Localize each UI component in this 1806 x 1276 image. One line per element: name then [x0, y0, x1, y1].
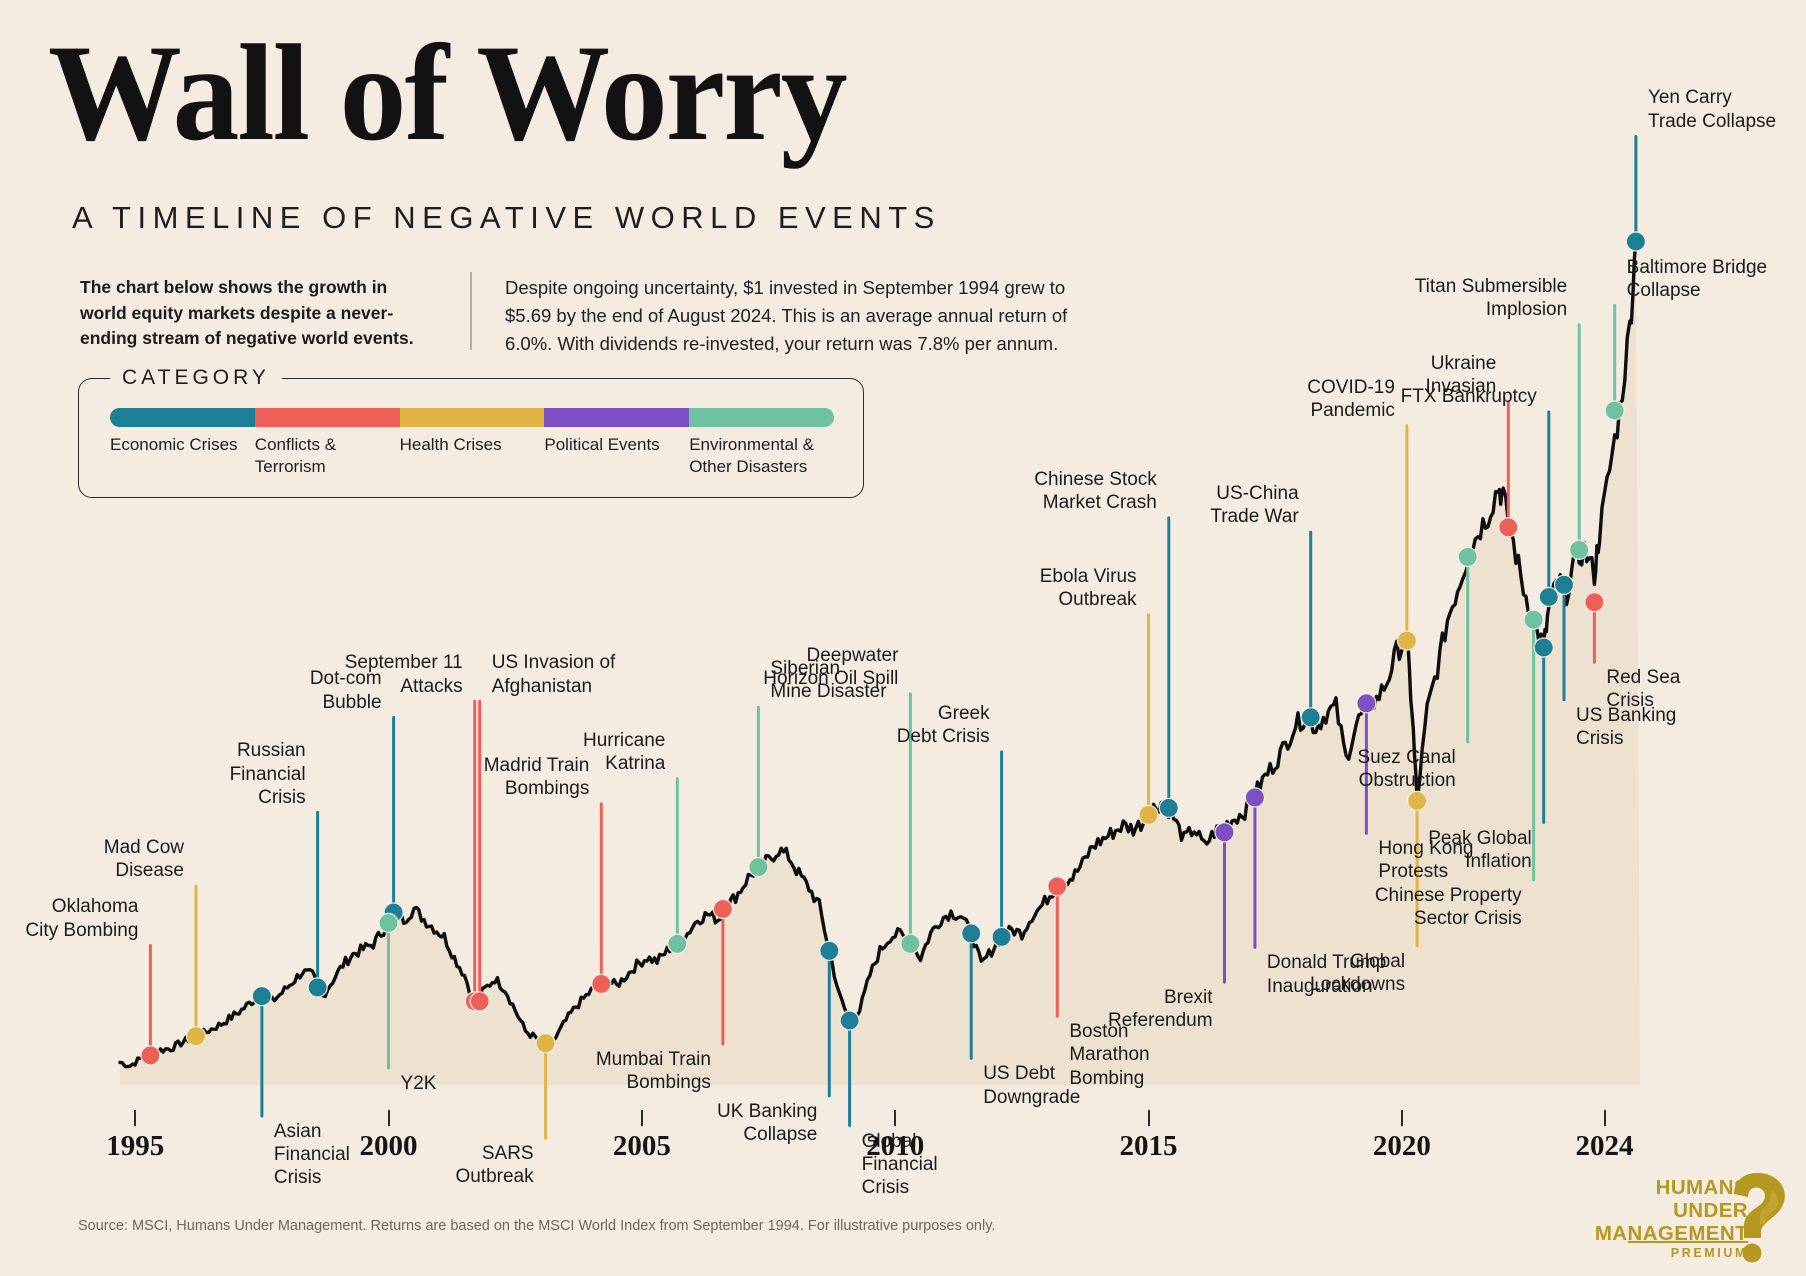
- event-marker[interactable]: [749, 858, 768, 877]
- event-marker[interactable]: [1357, 694, 1376, 713]
- event-marker[interactable]: [1555, 575, 1574, 594]
- axis-label-1995: 1995: [106, 1130, 164, 1163]
- axis-label-2010: 2010: [866, 1130, 924, 1163]
- event-marker[interactable]: [536, 1034, 555, 1053]
- event-marker[interactable]: [668, 934, 687, 953]
- event-marker[interactable]: [1585, 593, 1604, 612]
- event-marker[interactable]: [1048, 877, 1067, 896]
- axis-tick-2010: [894, 1110, 896, 1126]
- axis-label-2015: 2015: [1120, 1130, 1178, 1163]
- event-marker[interactable]: [1539, 588, 1558, 607]
- event-marker[interactable]: [713, 900, 732, 919]
- event-marker[interactable]: [1397, 631, 1416, 650]
- event-marker[interactable]: [1458, 547, 1477, 566]
- event-marker[interactable]: [1408, 791, 1427, 810]
- axis-label-2005: 2005: [613, 1130, 671, 1163]
- axis-tick-2024: [1604, 1110, 1606, 1126]
- event-marker[interactable]: [1605, 401, 1624, 420]
- event-marker[interactable]: [992, 927, 1011, 946]
- event-marker[interactable]: [1139, 805, 1158, 824]
- event-marker[interactable]: [820, 941, 839, 960]
- event-marker[interactable]: [187, 1027, 206, 1046]
- chart-area-fill: [120, 242, 1640, 1086]
- event-marker[interactable]: [308, 978, 327, 997]
- event-marker[interactable]: [962, 924, 981, 943]
- event-marker[interactable]: [1301, 708, 1320, 727]
- axis-label-2024: 2024: [1576, 1130, 1634, 1163]
- source-note: Source: MSCI, Humans Under Management. R…: [78, 1218, 995, 1234]
- event-marker[interactable]: [1245, 788, 1264, 807]
- event-marker[interactable]: [252, 987, 271, 1006]
- event-marker[interactable]: [1626, 232, 1645, 251]
- event-marker[interactable]: [1499, 518, 1518, 537]
- event-marker[interactable]: [901, 934, 920, 953]
- event-marker[interactable]: [1570, 540, 1589, 559]
- event-marker[interactable]: [1534, 638, 1553, 657]
- event-marker[interactable]: [592, 974, 611, 993]
- event-marker[interactable]: [1159, 798, 1178, 817]
- question-mark-logo-icon: [1714, 1168, 1798, 1264]
- axis-tick-2000: [388, 1110, 390, 1126]
- axis-tick-1995: [134, 1110, 136, 1126]
- axis-tick-2005: [641, 1110, 643, 1126]
- event-marker[interactable]: [141, 1046, 160, 1065]
- axis-tick-2020: [1401, 1110, 1403, 1126]
- chart-area: Oklahoma City BombingMad Cow DiseaseAsia…: [0, 0, 1806, 1276]
- axis-tick-2015: [1148, 1110, 1150, 1126]
- event-marker[interactable]: [379, 913, 398, 932]
- event-marker[interactable]: [1215, 823, 1234, 842]
- event-marker[interactable]: [840, 1011, 859, 1030]
- event-marker[interactable]: [1524, 610, 1543, 629]
- event-marker[interactable]: [470, 992, 489, 1011]
- axis-label-2020: 2020: [1373, 1130, 1431, 1163]
- axis-label-2000: 2000: [360, 1130, 418, 1163]
- line-chart-svg: [0, 0, 1806, 1276]
